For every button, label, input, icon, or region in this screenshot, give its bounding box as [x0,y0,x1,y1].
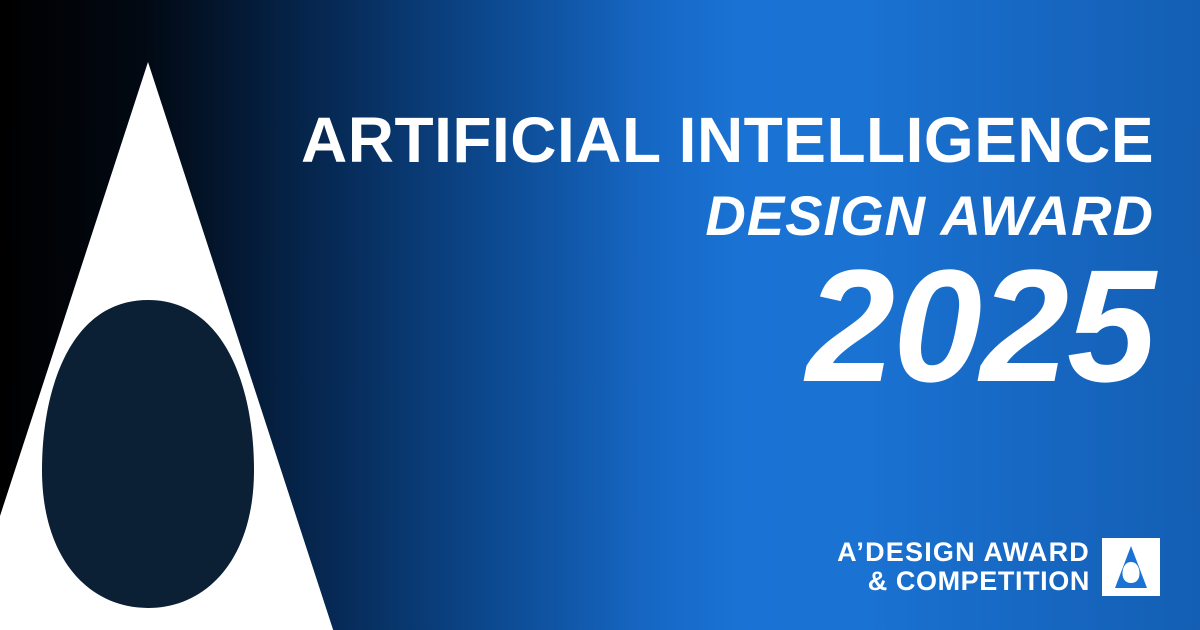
logo-line-a-design-award: A’DESIGN AWARD [837,538,1090,567]
a-design-award-logo-lockup: A’DESIGN AWARD & COMPETITION [837,538,1160,596]
title-line-year: 2025 [301,246,1154,406]
logo-badge [1102,538,1160,596]
poster-title-block: ARTIFICIAL INTELLIGENCE DESIGN AWARD 202… [301,108,1154,406]
title-line-artificial-intelligence: ARTIFICIAL INTELLIGENCE [301,108,1154,172]
a-design-award-drop-icon [1114,545,1148,589]
logo-wordmark: A’DESIGN AWARD & COMPETITION [837,538,1090,596]
logo-line-and-competition: & COMPETITION [837,567,1090,596]
poster-canvas: ARTIFICIAL INTELLIGENCE DESIGN AWARD 202… [0,0,1200,630]
